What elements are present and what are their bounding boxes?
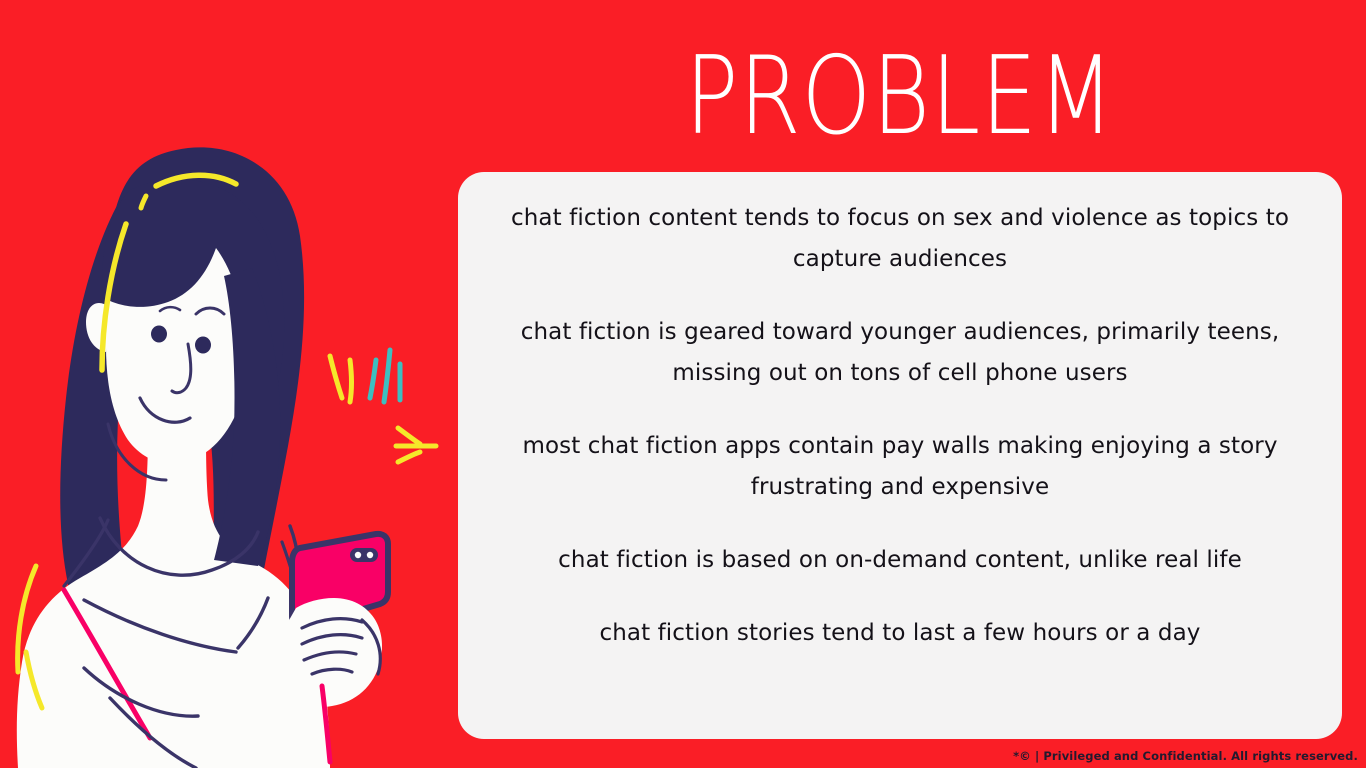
phone-camera-module <box>350 548 378 562</box>
sparkle-teal-2 <box>384 350 390 402</box>
sparkle-yellow-3 <box>398 428 420 444</box>
slide-root: PROBLEM chat fiction content tends to fo… <box>0 0 1366 768</box>
list-item: most chat fiction apps contain pay walls… <box>486 426 1314 508</box>
confidentiality-footer: *© | Privileged and Confidential. All ri… <box>1013 748 1358 764</box>
problem-list: chat fiction content tends to focus on s… <box>486 198 1314 654</box>
sparkle-yellow-5 <box>398 452 420 462</box>
problem-content-card: chat fiction content tends to focus on s… <box>458 172 1342 739</box>
phone-camera-lens-1 <box>355 552 361 558</box>
list-item: chat fiction stories tend to last a few … <box>486 613 1314 654</box>
sparkle-yellow-2 <box>350 360 352 402</box>
left-eye <box>151 326 167 343</box>
list-item: chat fiction content tends to focus on s… <box>486 198 1314 280</box>
sparkle-teal-1 <box>370 360 376 398</box>
page-title: PROBLEM <box>535 38 1265 156</box>
phone-camera-lens-2 <box>367 552 373 558</box>
woman-using-smartphone-illustration <box>0 128 460 768</box>
right-eye <box>195 337 211 354</box>
list-item: chat fiction is based on on-demand conte… <box>486 540 1314 581</box>
sparkle-yellow-1 <box>330 356 342 398</box>
list-item: chat fiction is geared toward younger au… <box>486 312 1314 394</box>
